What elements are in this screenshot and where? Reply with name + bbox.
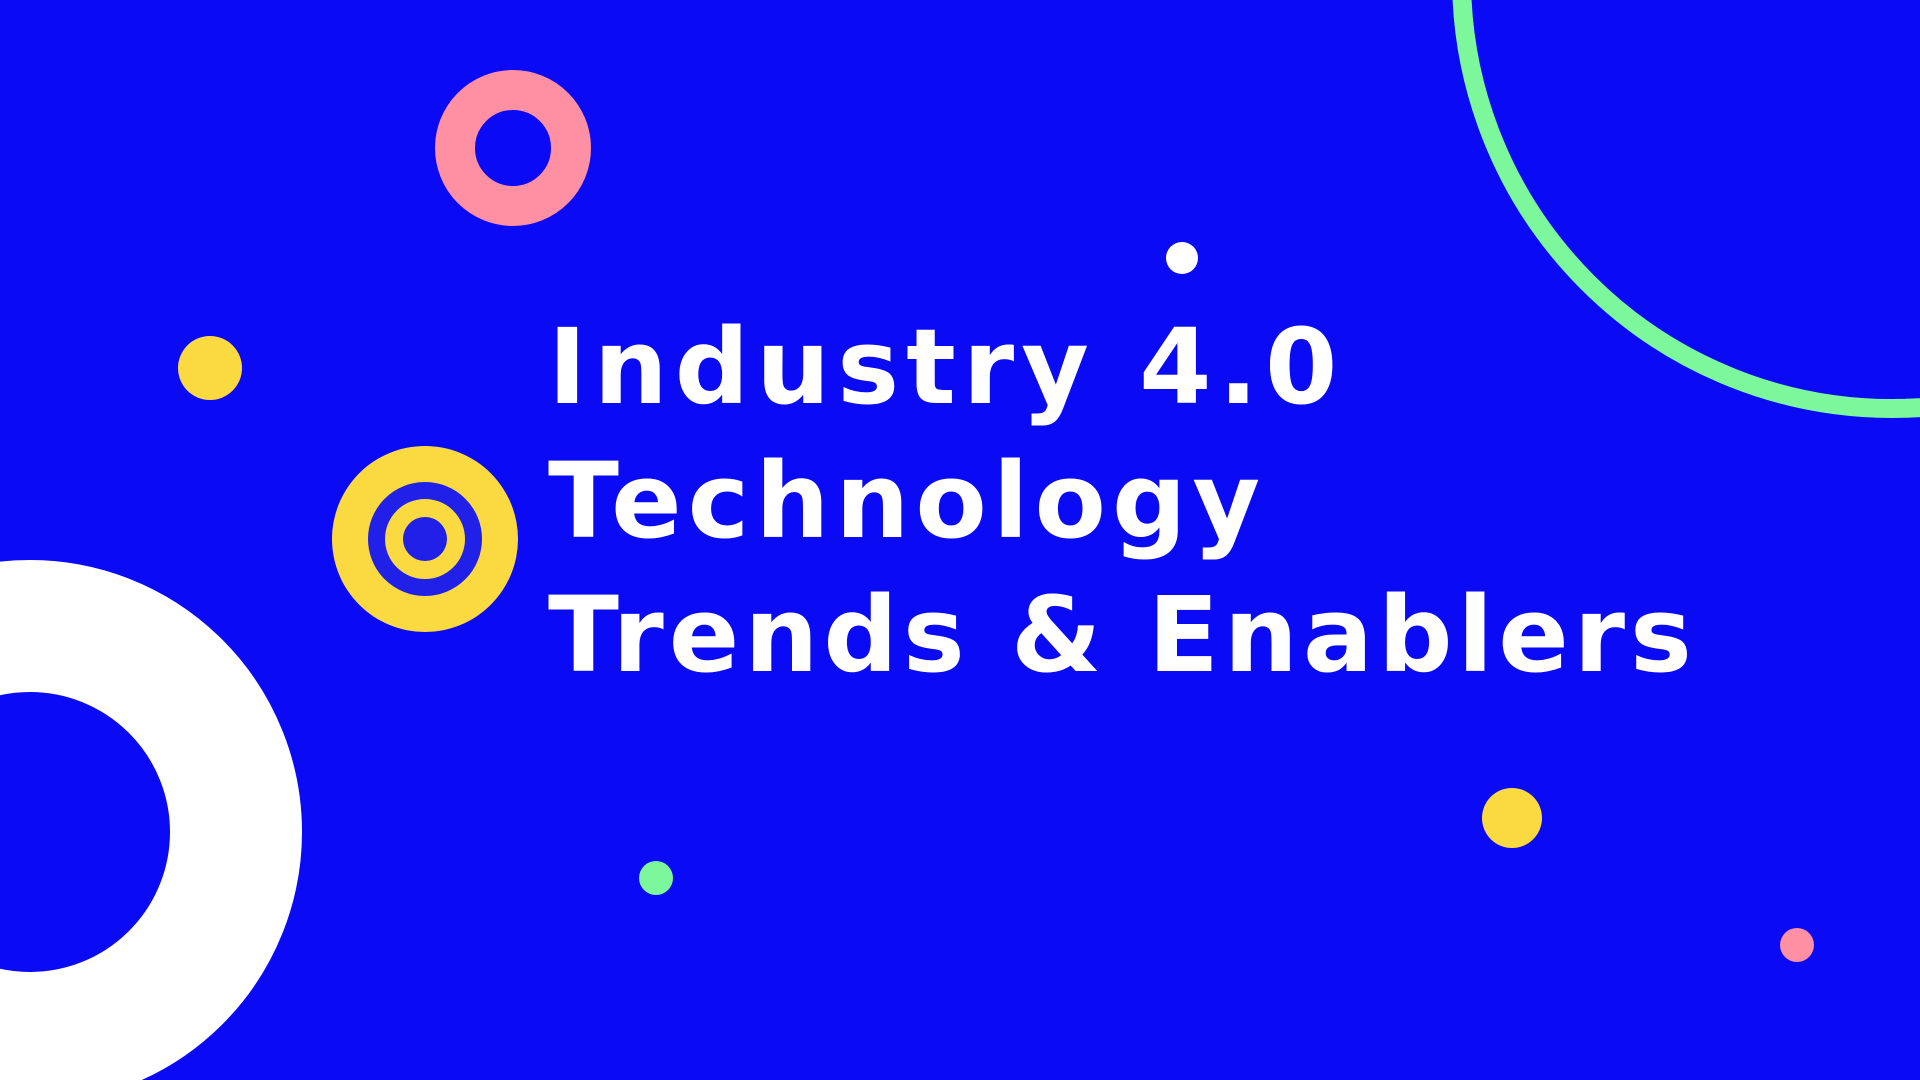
title-line-2: Technology <box>548 434 1708 568</box>
small-white-dot-shape <box>1166 242 1198 274</box>
yellow-target-middle-ring <box>368 482 482 596</box>
title-line-3: Trends & Enablers <box>548 568 1708 702</box>
small-green-dot-shape <box>639 861 673 895</box>
title-slide: Industry 4.0 Technology Trends & Enabler… <box>0 0 1920 1080</box>
pink-ring-shape <box>435 70 591 226</box>
small-yellow-dot-shape <box>178 336 242 400</box>
white-donut-shape <box>0 560 302 1080</box>
yellow-target-center-dot <box>403 517 447 561</box>
slide-title: Industry 4.0 Technology Trends & Enabler… <box>548 300 1708 702</box>
yellow-target-outer-shape <box>332 446 518 632</box>
title-line-1: Industry 4.0 <box>548 300 1708 434</box>
medium-yellow-dot-shape <box>1482 788 1542 848</box>
small-pink-dot-shape <box>1780 928 1814 962</box>
